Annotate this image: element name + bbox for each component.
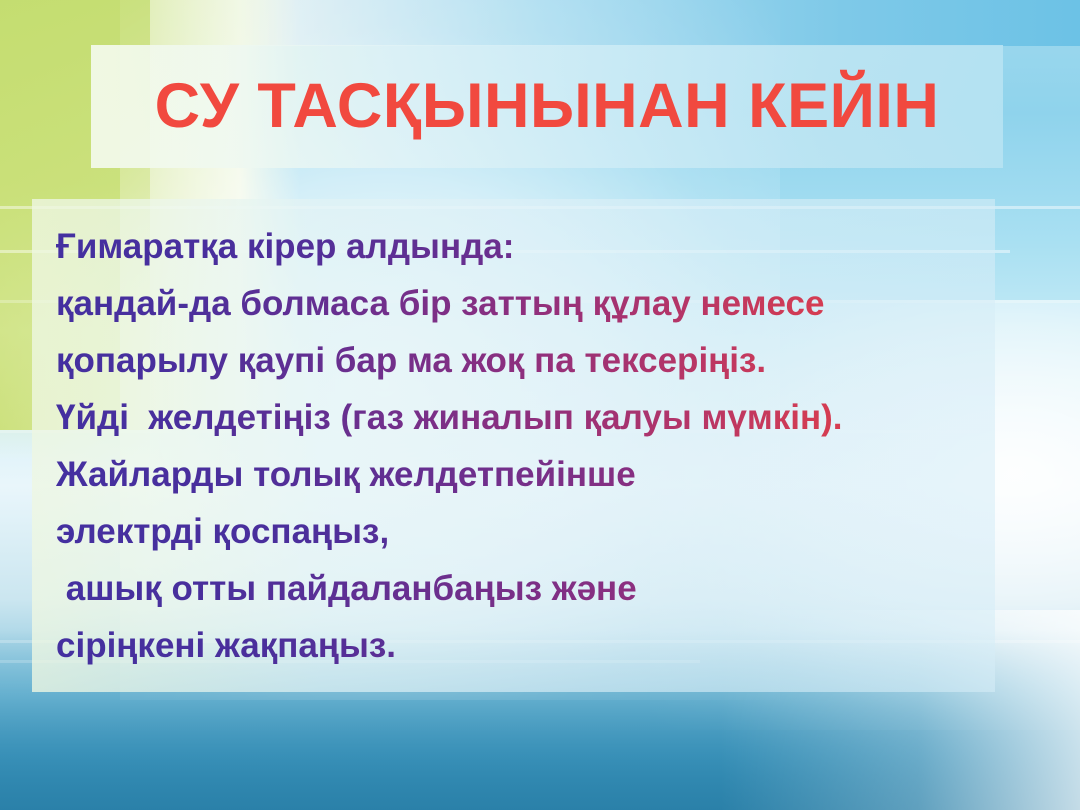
body-line: қопарылу қаупі бар ма жоқ па тексеріңіз. (56, 332, 1016, 389)
body-line: қандай-да болмаса бір заттың құлау немес… (56, 275, 1016, 332)
body-line: электрді қоспаңыз, (56, 503, 1016, 560)
body-line: Үйді желдетіңіз (газ жиналып қалуы мүмкі… (56, 389, 1016, 446)
body-line: Жайларды толық желдетпейінше (56, 446, 1016, 503)
slide-title: СУ ТАСҚЫНЫНАН КЕЙІН (155, 75, 940, 138)
body-text-block: Ғимаратқа кірер алдында: қандай-да болма… (56, 218, 1016, 674)
body-line: Ғимаратқа кірер алдында: (56, 218, 1016, 275)
body-line: ашық отты пайдаланбаңыз және (56, 560, 1016, 617)
title-banner: СУ ТАСҚЫНЫНАН КЕЙІН (91, 45, 1003, 168)
body-line: сіріңкені жақпаңыз. (56, 617, 1016, 674)
presentation-slide: СУ ТАСҚЫНЫНАН КЕЙІН Ғимаратқа кірер алды… (0, 0, 1080, 810)
